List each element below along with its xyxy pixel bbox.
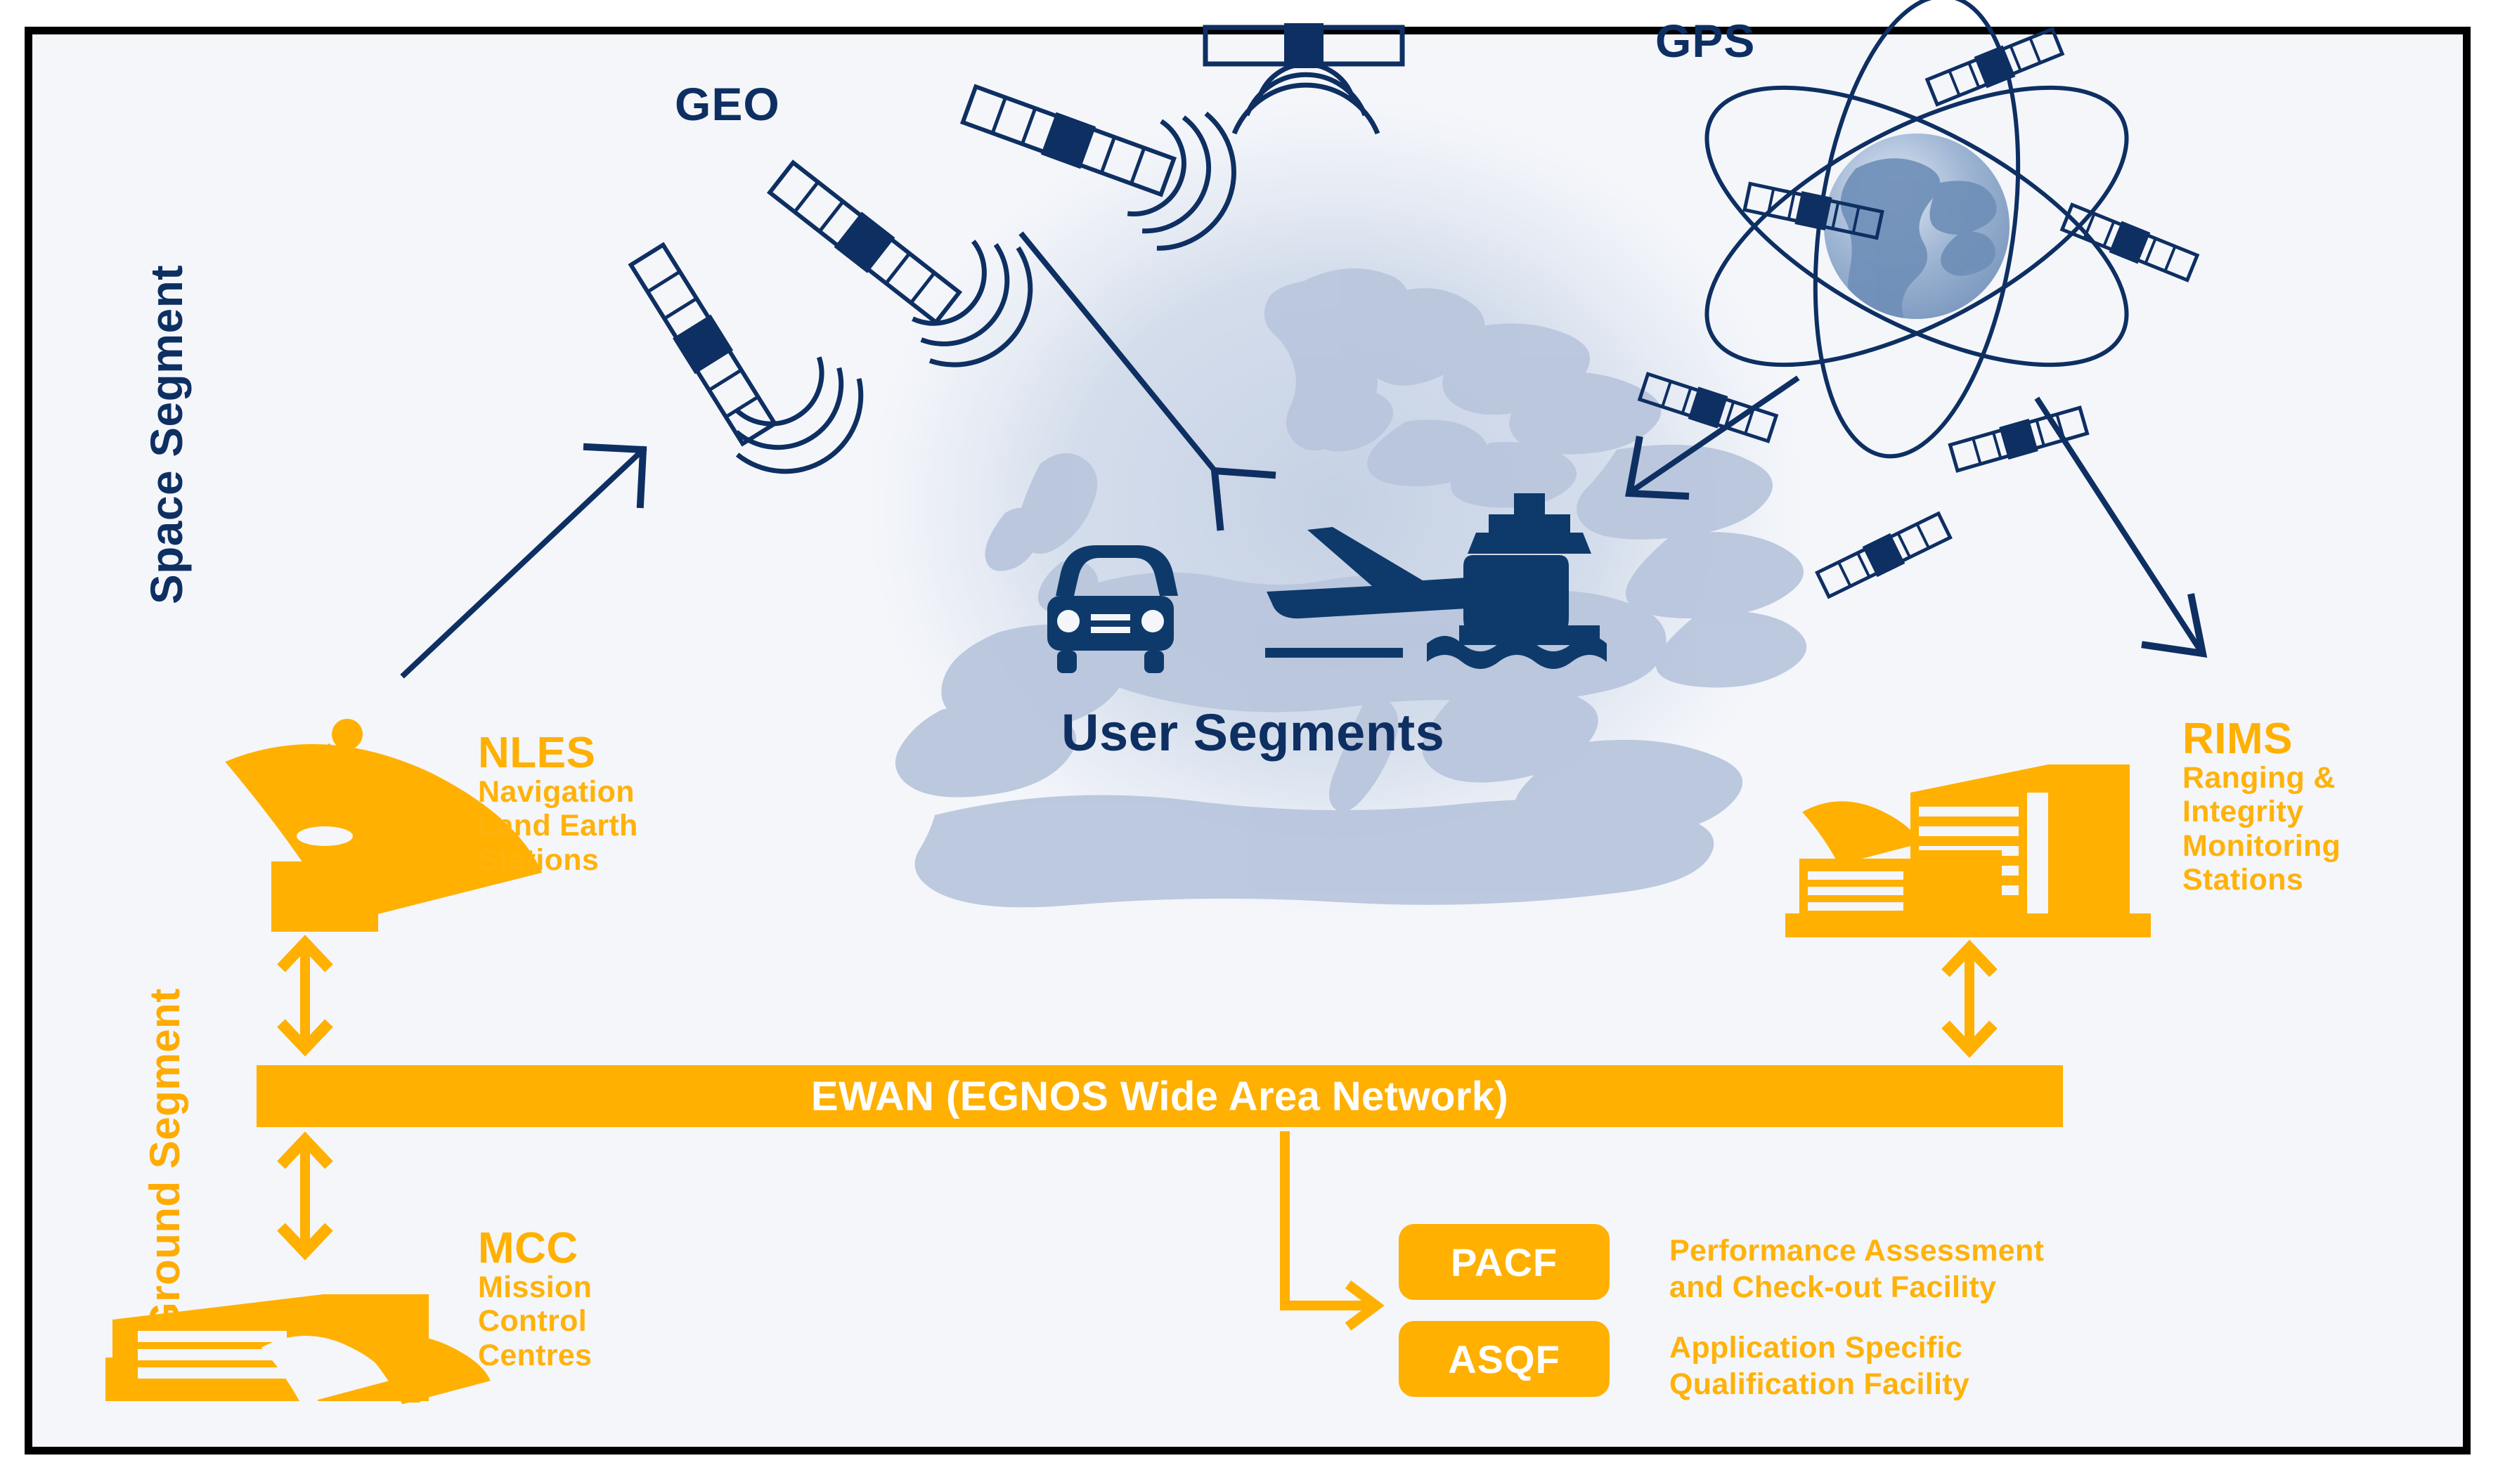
rims-line-3: Monitoring — [2182, 829, 2341, 863]
rims-line-1: Ranging & — [2182, 761, 2341, 795]
rims-acronym: RIMS — [2182, 717, 2341, 761]
mcc-text-block: MCC Mission Control Centres — [478, 1226, 592, 1372]
asqf-text-block: Application Specific Qualification Facil… — [1669, 1330, 1969, 1402]
pacf-line-2: and Check-out Facility — [1669, 1270, 2044, 1306]
diagram-canvas: Space Segment Ground Segment GEO GPS Use… — [0, 0, 2498, 1484]
mcc-acronym: MCC — [478, 1226, 592, 1270]
user-segments-label: User Segments — [1061, 703, 1444, 762]
nles-line-3: Stations — [478, 843, 638, 877]
nles-line-2: Land Earth — [478, 809, 638, 842]
mcc-line-1: Mission — [478, 1270, 592, 1304]
ewan-bar: EWAN (EGNOS Wide Area Network) — [257, 1065, 2063, 1127]
gps-label: GPS — [1655, 14, 1755, 67]
rims-line-4: Stations — [2182, 863, 2341, 897]
pacf-badge[interactable]: PACF — [1399, 1224, 1610, 1300]
rims-text-block: RIMS Ranging & Integrity Monitoring Stat… — [2182, 717, 2341, 897]
mcc-line-2: Control — [478, 1304, 592, 1338]
ewan-label: EWAN (EGNOS Wide Area Network) — [811, 1073, 1508, 1120]
geo-label: GEO — [675, 77, 780, 131]
asqf-line-2: Qualification Facility — [1669, 1367, 1969, 1403]
pacf-badge-label: PACF — [1451, 1239, 1558, 1285]
asqf-badge[interactable]: ASQF — [1399, 1321, 1610, 1397]
nles-acronym: NLES — [478, 731, 638, 775]
nles-line-1: Navigation — [478, 775, 638, 809]
asqf-line-1: Application Specific — [1669, 1330, 1969, 1367]
mcc-line-3: Centres — [478, 1339, 592, 1372]
rims-line-2: Integrity — [2182, 795, 2341, 828]
pacf-line-1: Performance Assessment — [1669, 1233, 2044, 1270]
pacf-text-block: Performance Assessment and Check-out Fac… — [1669, 1233, 2044, 1306]
asqf-badge-label: ASQF — [1448, 1336, 1560, 1382]
nles-text-block: NLES Navigation Land Earth Stations — [478, 731, 638, 877]
ground-segment-label: Ground Segment — [141, 988, 189, 1335]
space-segment-label: Space Segment — [141, 265, 193, 604]
